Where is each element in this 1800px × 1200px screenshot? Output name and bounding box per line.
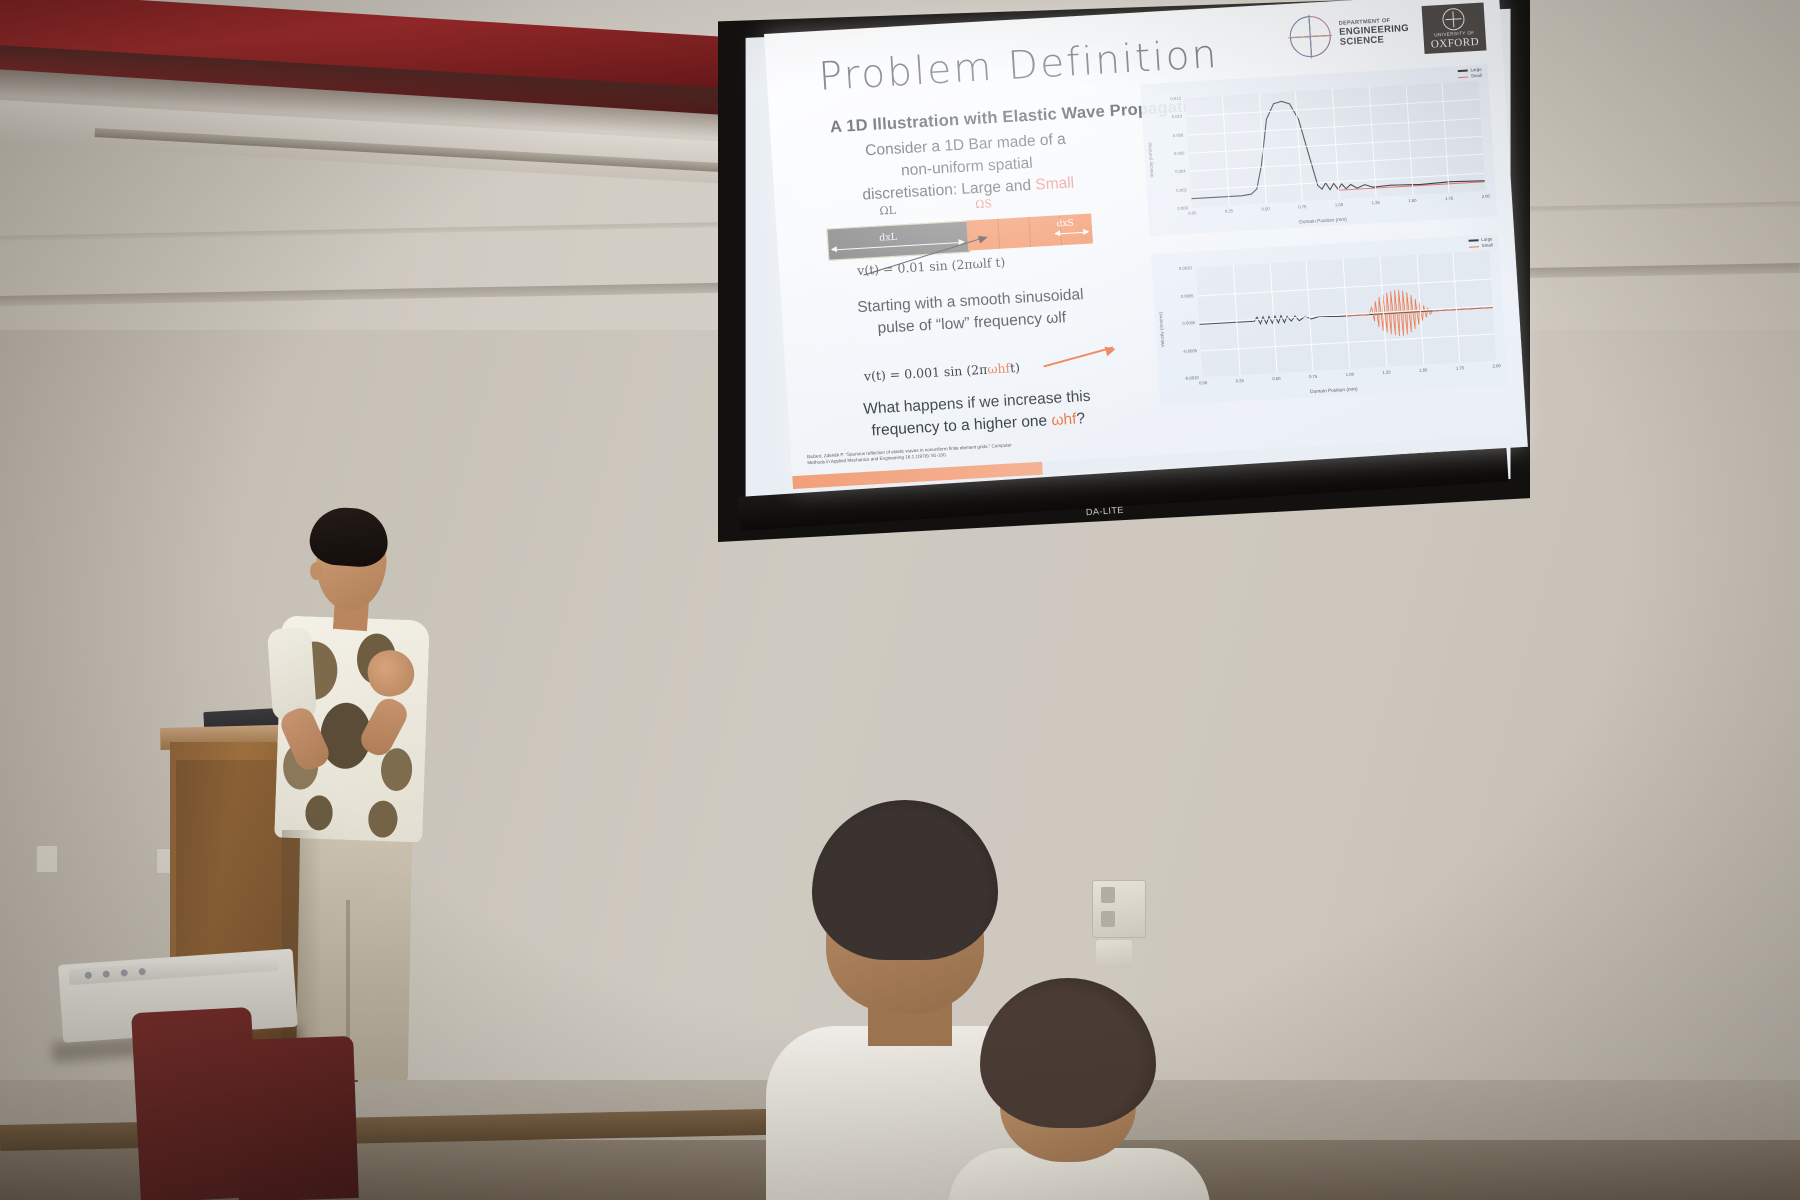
presenter-ear — [310, 562, 323, 580]
chart-0-plot-area: 0.012 0.010 0.008 0.006 0.004 0.002 0.00… — [1185, 81, 1486, 208]
equation-2-omega-hf: ωhf — [987, 360, 1011, 376]
chart-0-ytick-2: 0.004 — [1175, 169, 1186, 175]
equation-high-frequency: v(t) = 0.001 sin (2πωhft) — [864, 360, 1021, 384]
chart-1-legend: Large Small — [1468, 236, 1493, 250]
slide-citation: Bažant, Zdeněk P. “Spurious reflection o… — [807, 442, 1017, 466]
chart-0-xtick-3: 0.75 — [1298, 204, 1306, 209]
chart-0-legend-item-small: Small — [1458, 73, 1483, 81]
paragraph-3-omega-hf: ωhf — [1051, 411, 1077, 429]
label-dx-small: dxS — [1056, 218, 1074, 229]
oxford-logo: UNIVERSITY OF OXFORD — [1422, 3, 1487, 54]
slide-paragraph-3: What happens if we increase this frequen… — [818, 383, 1138, 445]
arrow-to-bottom-plot-icon — [1043, 346, 1113, 367]
chart-0-xtick-1: 0.25 — [1225, 208, 1233, 213]
slide-paragraph-1: Consider a 1D Bar made of a non-uniform … — [815, 126, 1119, 209]
engineering-science-logo: DEPARTMENT OF ENGINEERING SCIENCE — [1286, 8, 1411, 61]
chart-1-xtick-0: 0.00 — [1199, 380, 1207, 385]
chart-1-xtick-8: 2.00 — [1492, 363, 1500, 368]
audience-1-hair — [812, 800, 998, 960]
equation-2-prefix: v(t) = 0.001 sin (2π — [864, 362, 988, 384]
equation-low-frequency: v(t) = 0.01 sin (2πωlf t) — [857, 255, 1006, 279]
chart-0-xtick-2: 0.50 — [1261, 206, 1269, 211]
chart-1-xtick-7: 1.75 — [1456, 365, 1464, 370]
slide-logos: DEPARTMENT OF ENGINEERING SCIENCE UNIVER… — [1286, 3, 1487, 62]
chart-low-frequency: Velocity (mm/ms) 0.012 0.010 0.008 0.006… — [1140, 64, 1497, 236]
chart-0-ylabel: Velocity (mm/ms) — [1147, 142, 1154, 177]
logo-line-science: SCIENCE — [1340, 34, 1410, 49]
chart-1-xtick-6: 1.50 — [1419, 367, 1427, 372]
chart-0-ytick-0: 0.000 — [1177, 205, 1188, 211]
wall-outlet[interactable] — [1092, 880, 1146, 938]
chart-0-xtick-6: 1.50 — [1408, 198, 1416, 203]
chart-1-xtick-3: 0.75 — [1309, 374, 1317, 379]
wall-outlet-small[interactable] — [1096, 940, 1132, 968]
presenter-hair — [308, 505, 390, 568]
presenter — [272, 500, 472, 1080]
presenter-left-sleeve — [267, 627, 317, 722]
chart-1-xtick-4: 1.00 — [1346, 372, 1354, 377]
chart-1-legend-label-small: Small — [1482, 243, 1493, 250]
chart-0-xtick-7: 1.75 — [1445, 196, 1453, 201]
audience-member-2 — [960, 978, 1200, 1200]
label-omega-small: ΩS — [975, 197, 992, 211]
chart-0-ytick-1: 0.002 — [1176, 187, 1187, 193]
chart-0-ytick-5: 0.010 — [1171, 114, 1182, 120]
lecture-photo: DA-LITE DEPARTMENT OF ENGINEER — [0, 0, 1800, 1200]
chart-1-ytick-2: 0.0000 — [1182, 320, 1195, 326]
wall-switch-left[interactable] — [36, 845, 58, 873]
presentation-slide: DEPARTMENT OF ENGINEERING SCIENCE UNIVER… — [764, 0, 1528, 489]
chart-1-ytick-4: -0.0010 — [1184, 375, 1198, 381]
chart-0-ytick-6: 0.012 — [1170, 96, 1181, 102]
audience-2-hair — [980, 978, 1156, 1128]
label-omega-large: ΩL — [879, 204, 896, 218]
chart-0-xtick-8: 2.00 — [1482, 193, 1490, 198]
chart-0-xtick-4: 1.00 — [1335, 202, 1343, 207]
chart-1-plot-area: 0.0010 0.0005 0.0000 -0.0005 -0.0010 0.0… — [1196, 251, 1497, 378]
oxford-line-oxford: OXFORD — [1430, 35, 1479, 50]
keyword-small: Small — [1035, 174, 1075, 193]
bar-segment-large — [827, 221, 971, 261]
chart-0-ytick-3: 0.006 — [1174, 150, 1185, 156]
chart-1-xtick-5: 1.25 — [1382, 369, 1390, 374]
label-dx-large: dxL — [879, 232, 897, 244]
chart-0-ytick-4: 0.008 — [1173, 132, 1184, 138]
eng-science-mark-icon — [1286, 12, 1335, 61]
oxford-crest-icon — [1442, 7, 1465, 30]
chart-1-xtick-1: 0.25 — [1236, 378, 1244, 383]
chart-0-xtick-0: 0.00 — [1188, 210, 1196, 215]
chart-1-ytick-0: 0.0010 — [1179, 265, 1192, 271]
chair-front-left-2 — [233, 1036, 359, 1200]
bar-diagram: ΩL ΩS dxL dxS — [816, 200, 1118, 261]
chart-1-xtick-2: 0.50 — [1272, 376, 1280, 381]
chart-1-legend-item-small: Small — [1469, 243, 1494, 251]
slide-paragraph-2: Starting with a smooth sinusoidal pulse … — [815, 282, 1127, 344]
chart-0-legend-label-small: Small — [1471, 73, 1482, 80]
chart-1-xlabel: Domain Position (mm) — [1310, 387, 1358, 395]
chart-1-ytick-3: -0.0005 — [1183, 348, 1197, 354]
equation-2-suffix: t) — [1010, 360, 1021, 376]
chart-0-legend: Large Small — [1457, 67, 1482, 81]
chart-high-frequency: Velocity (mm/ms) 0.0010 0.0005 0.0000 -0… — [1151, 234, 1508, 406]
chart-1-ytick-1: 0.0005 — [1181, 293, 1194, 299]
chart-1-ylabel: Velocity (mm/ms) — [1158, 312, 1165, 347]
engineering-science-text: DEPARTMENT OF ENGINEERING SCIENCE — [1339, 17, 1410, 48]
chart-0-xlabel: Domain Position (mm) — [1299, 218, 1347, 226]
chart-0-xtick-5: 1.25 — [1371, 200, 1379, 205]
paragraph-3-suffix: ? — [1076, 410, 1086, 427]
